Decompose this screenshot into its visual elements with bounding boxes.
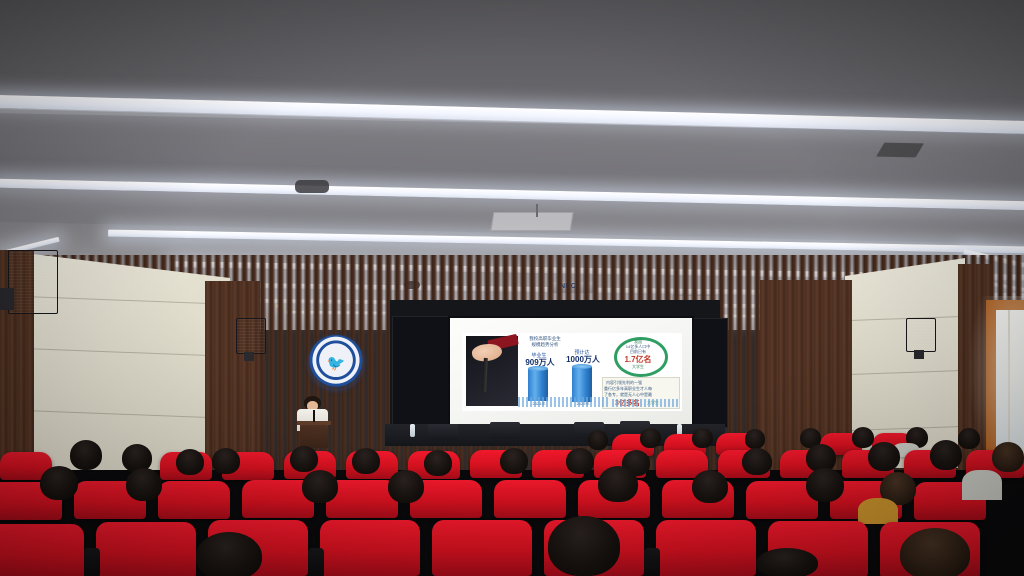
auditorium-photo: NEC 🐦	[0, 0, 1024, 576]
seat	[0, 524, 84, 576]
monitor	[428, 424, 458, 440]
audience-head	[900, 528, 970, 576]
city-silhouette	[518, 397, 608, 407]
audience-head	[176, 449, 204, 475]
seat	[96, 522, 196, 576]
slide: 毕业生 909万人 2021年 预计达 1000万人 2022年 我校高职毕业生…	[462, 333, 682, 411]
audience-head	[388, 470, 424, 503]
monitor	[490, 422, 520, 439]
audience-head	[692, 470, 728, 503]
seat-side-panel	[84, 548, 100, 576]
projection-screen[interactable]: 毕业生 909万人 2021年 预计达 1000万人 2022年 我校高职毕业生…	[450, 318, 692, 430]
audience-head	[424, 450, 452, 476]
lectern	[300, 424, 328, 448]
pen-icon	[482, 358, 488, 392]
ceiling-vent-icon	[876, 143, 924, 158]
seat-side-panel	[308, 548, 324, 576]
speaker-mount	[914, 350, 924, 359]
audience-head	[868, 442, 900, 471]
audience-shoulder	[962, 470, 1002, 500]
seat	[432, 520, 532, 576]
audience-head	[930, 440, 962, 470]
speaker-mount	[0, 288, 14, 310]
audience-head	[212, 448, 240, 474]
bar-1-top	[528, 366, 548, 371]
bird-icon: 🐦	[327, 356, 346, 371]
city-silhouette	[612, 399, 678, 407]
ceiling-vent-icon	[490, 212, 573, 231]
audience-shoulder	[858, 498, 898, 524]
audience-head	[958, 428, 980, 449]
audience-head	[290, 446, 318, 472]
audience-head	[588, 430, 608, 450]
wood-wall-panel	[205, 281, 260, 471]
seat	[320, 520, 420, 576]
audience-head	[500, 448, 528, 474]
water-bottle	[410, 424, 415, 437]
wall-speaker-icon	[906, 318, 936, 352]
ceiling-hanger	[536, 204, 538, 217]
audience-head	[640, 428, 661, 448]
audience-head	[745, 429, 765, 449]
seat	[656, 520, 756, 576]
audience-head	[548, 516, 620, 576]
slide-photo	[466, 336, 518, 406]
audience-head	[302, 470, 338, 503]
university-emblem: 🐦	[308, 335, 364, 391]
audience-head	[992, 442, 1024, 472]
ceiling-speaker-icon	[295, 180, 329, 193]
audience-head	[598, 466, 638, 502]
ring-caption: 大学生	[614, 364, 662, 370]
blackboard	[392, 316, 452, 430]
audience-head	[196, 532, 262, 576]
wall-speaker-icon	[236, 318, 266, 354]
speaker-mount	[244, 352, 254, 361]
audience-head	[126, 468, 162, 501]
wall-speaker-icon	[8, 250, 58, 314]
audience-head	[852, 427, 874, 448]
audience-head	[70, 440, 102, 470]
audience-head	[692, 428, 713, 448]
audience-head	[742, 448, 772, 475]
audience-head	[352, 448, 380, 474]
blackboard	[690, 318, 728, 428]
audience-head	[566, 448, 594, 474]
audience-head	[40, 466, 78, 500]
bar-2-top	[572, 364, 592, 369]
audience-head	[806, 468, 844, 502]
audience-head	[756, 548, 818, 576]
microphone-icon	[313, 410, 315, 422]
seat	[158, 481, 230, 519]
seat	[494, 480, 566, 518]
slide-title: 我校高职毕业生 规模趋势分析	[519, 336, 571, 348]
seat-side-panel	[644, 548, 660, 576]
